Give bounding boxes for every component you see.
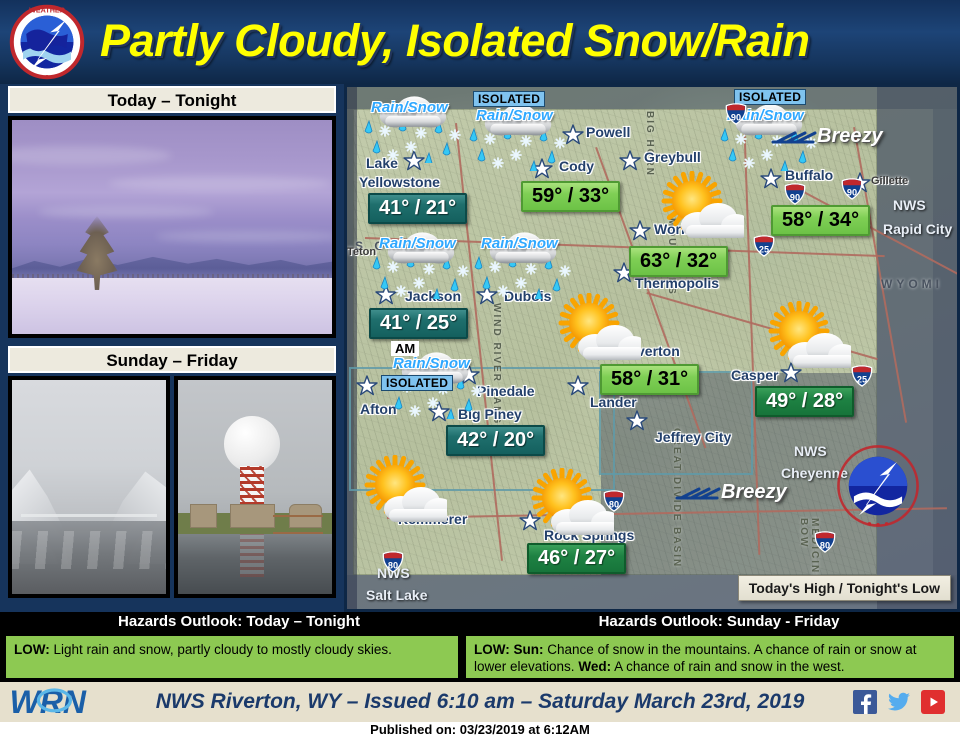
rain-snow-label: Rain/Snow	[481, 235, 558, 252]
rain-snow-label: Rain/Snow	[371, 99, 448, 116]
isolated-tag: ISOLATED	[473, 91, 545, 107]
svg-text:80: 80	[388, 560, 398, 570]
hazard-text-wed: A chance of rain and snow in the west.	[614, 659, 844, 674]
city-label: Salt Lake	[366, 587, 427, 603]
city-label: Jeffrey City	[655, 429, 731, 445]
rain-snow-label: Rain/Snow	[393, 355, 470, 372]
map-legend: Today's High / Tonight's Low	[738, 575, 951, 601]
city-label: Powell	[586, 124, 630, 140]
svg-text:80: 80	[820, 540, 830, 550]
forecast-temp-box: 58° / 34°	[771, 205, 870, 236]
city-label: NWS	[794, 443, 827, 459]
breezy-label: Breezy	[817, 125, 883, 148]
wind-barb-icon	[771, 127, 817, 152]
forecast-map[interactable]: WYOMIS O U T HBIG HORNMOUNTAINSWIND RIVE…	[344, 84, 960, 612]
sun-behind-cloud-icon	[361, 455, 447, 532]
hazard-level-left: LOW:	[14, 642, 50, 657]
hazard-day-wed: Wed:	[578, 659, 611, 674]
sun-behind-cloud-icon	[765, 301, 851, 378]
hazard-text-left: Light rain and snow, partly cloudy to mo…	[54, 642, 392, 657]
svg-text:80: 80	[609, 499, 619, 509]
city-label: Lander	[590, 394, 637, 410]
city-label: Greybull	[644, 149, 701, 165]
wind-barb-icon	[675, 483, 721, 508]
svg-text:90: 90	[731, 112, 741, 122]
interstate-shield-icon: 90	[784, 183, 806, 205]
youtube-icon[interactable]	[920, 690, 946, 714]
hazards-section: Hazards Outlook: Today – Tonight Hazards…	[0, 612, 960, 682]
svg-text:WEATHER: WEATHER	[29, 5, 66, 14]
forecast-temp-box: 42° / 20°	[446, 425, 545, 456]
interstate-shield-icon: 80	[382, 551, 404, 573]
out-of-area-shading-west	[347, 87, 357, 612]
radar-dome-photo	[174, 376, 336, 598]
nws-logo-icon: WEATHER	[6, 2, 88, 82]
sun-behind-cloud-icon	[528, 468, 614, 545]
state-label: WYOMI	[881, 277, 943, 291]
am-tag: AM	[391, 341, 419, 356]
hazards-box-left: LOW: Light rain and snow, partly cloudy …	[4, 634, 460, 680]
svg-text:90: 90	[790, 192, 800, 202]
wrn-logo-icon: WRN	[8, 684, 104, 720]
forecast-temp-box: 49° / 28°	[755, 386, 854, 417]
forecast-temp-box: 41° / 21°	[368, 193, 467, 224]
winter-sunset-photo	[8, 116, 336, 338]
interstate-shield-icon: 80	[603, 490, 625, 512]
left-photo-column: Today – Tonight Sunday – Friday	[0, 84, 344, 612]
forecast-temp-box: 41° / 25°	[369, 308, 468, 339]
out-of-area-shading-east2	[933, 109, 960, 575]
issued-text: NWS Riverton, WY – Issued 6:10 am – Satu…	[150, 682, 810, 722]
sun-behind-cloud-icon	[555, 293, 641, 370]
facebook-icon[interactable]	[852, 690, 878, 714]
interstate-shield-icon: 25	[753, 235, 775, 257]
city-label: Yellowstone	[359, 174, 440, 190]
svg-text:25: 25	[857, 374, 867, 384]
isolated-tag: ISOLATED	[381, 375, 453, 391]
interstate-shield-icon: 80	[814, 531, 836, 553]
hazards-box-right: LOW: Sun: Chance of snow in the mountain…	[464, 634, 956, 680]
hazards-title-left: Hazards Outlook: Today – Tonight	[0, 613, 478, 630]
nws-logo-icon	[835, 443, 921, 529]
page-title: Partly Cloudy, Isolated Snow/Rain	[100, 8, 950, 76]
sun-behind-cloud-icon	[658, 171, 744, 248]
published-text: Published on: 03/23/2019 at 6:12AM	[0, 722, 960, 740]
hazard-level-right: LOW:	[474, 642, 510, 657]
hazards-title-right: Hazards Outlook: Sunday - Friday	[478, 613, 960, 630]
rain-snow-label: Rain/Snow	[379, 235, 456, 252]
panel-heading-extended: Sunday – Friday	[8, 346, 336, 373]
canyon-snow-photo	[8, 376, 170, 598]
panel-heading-today: Today – Tonight	[8, 86, 336, 113]
city-label: Thermopolis	[635, 275, 719, 291]
forecast-temp-box: 63° / 32°	[629, 246, 728, 277]
forecast-temp-box: 46° / 27°	[527, 543, 626, 574]
hazard-day-sun: Sun:	[514, 642, 544, 657]
city-label: Gillette	[871, 175, 908, 187]
svg-text:90: 90	[847, 187, 857, 197]
interstate-shield-icon: 90	[725, 103, 747, 125]
forecast-temp-box: 59° / 33°	[521, 181, 620, 212]
mountain-range-label: BIG HORN	[644, 111, 655, 177]
city-label: Rapid City	[883, 221, 952, 237]
interstate-shield-icon: 25	[851, 365, 873, 387]
rain-snow-label: Rain/Snow	[476, 107, 553, 124]
interstate-shield-icon: 90	[841, 178, 863, 200]
svg-text:25: 25	[759, 244, 769, 254]
header-banner: WEATHER Partly Cloudy, Isolated Snow/Rai…	[0, 0, 960, 86]
city-label: NWS	[893, 197, 926, 213]
footer-bar: WRN NWS Riverton, WY – Issued 6:10 am – …	[0, 682, 960, 722]
breezy-label: Breezy	[721, 481, 787, 504]
twitter-icon[interactable]	[886, 690, 912, 714]
